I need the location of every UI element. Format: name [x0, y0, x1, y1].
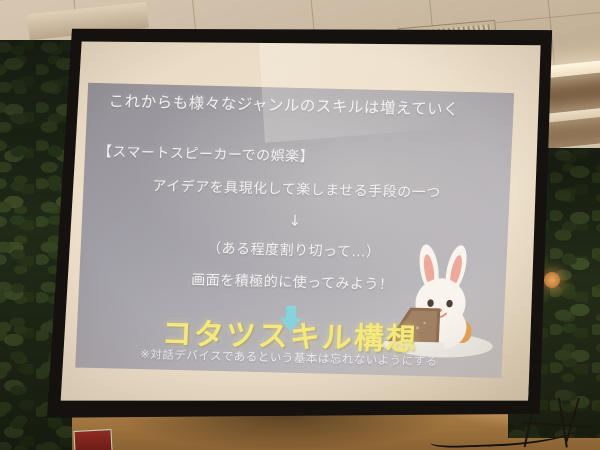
slide-idea-line: アイデアを具現化して楽しませる手段の一つ	[83, 174, 510, 204]
slide-headline: これからも様々なジャンルのスキルは増えていく	[87, 88, 514, 120]
decorative-light-orb	[544, 272, 560, 288]
photo-scene: これからも様々なジャンルのスキルは増えていく 【スマートスピーカーでの娯楽】 ア…	[0, 0, 600, 450]
down-arrow-icon: ↓	[82, 206, 509, 234]
slide-bracket-line: 【スマートスピーカーでの娯楽】	[85, 141, 512, 171]
slide-paren-line: （ある程度割り切って…）	[80, 235, 507, 265]
screen-canvas: これからも様々なジャンルのスキルは増えていく 【スマートスピーカーでの娯楽】 ア…	[60, 32, 545, 413]
red-wall-sign	[73, 429, 112, 450]
projection-screen: これからも様々なジャンルのスキルは増えていく 【スマートスピーカーでの娯楽】 ア…	[47, 18, 557, 430]
slide-use-line: 画面を積極的に使ってみよう！	[79, 266, 506, 296]
presentation-slide: これからも様々なジャンルのスキルは増えていく 【スマートスピーカーでの娯楽】 ア…	[75, 83, 514, 378]
